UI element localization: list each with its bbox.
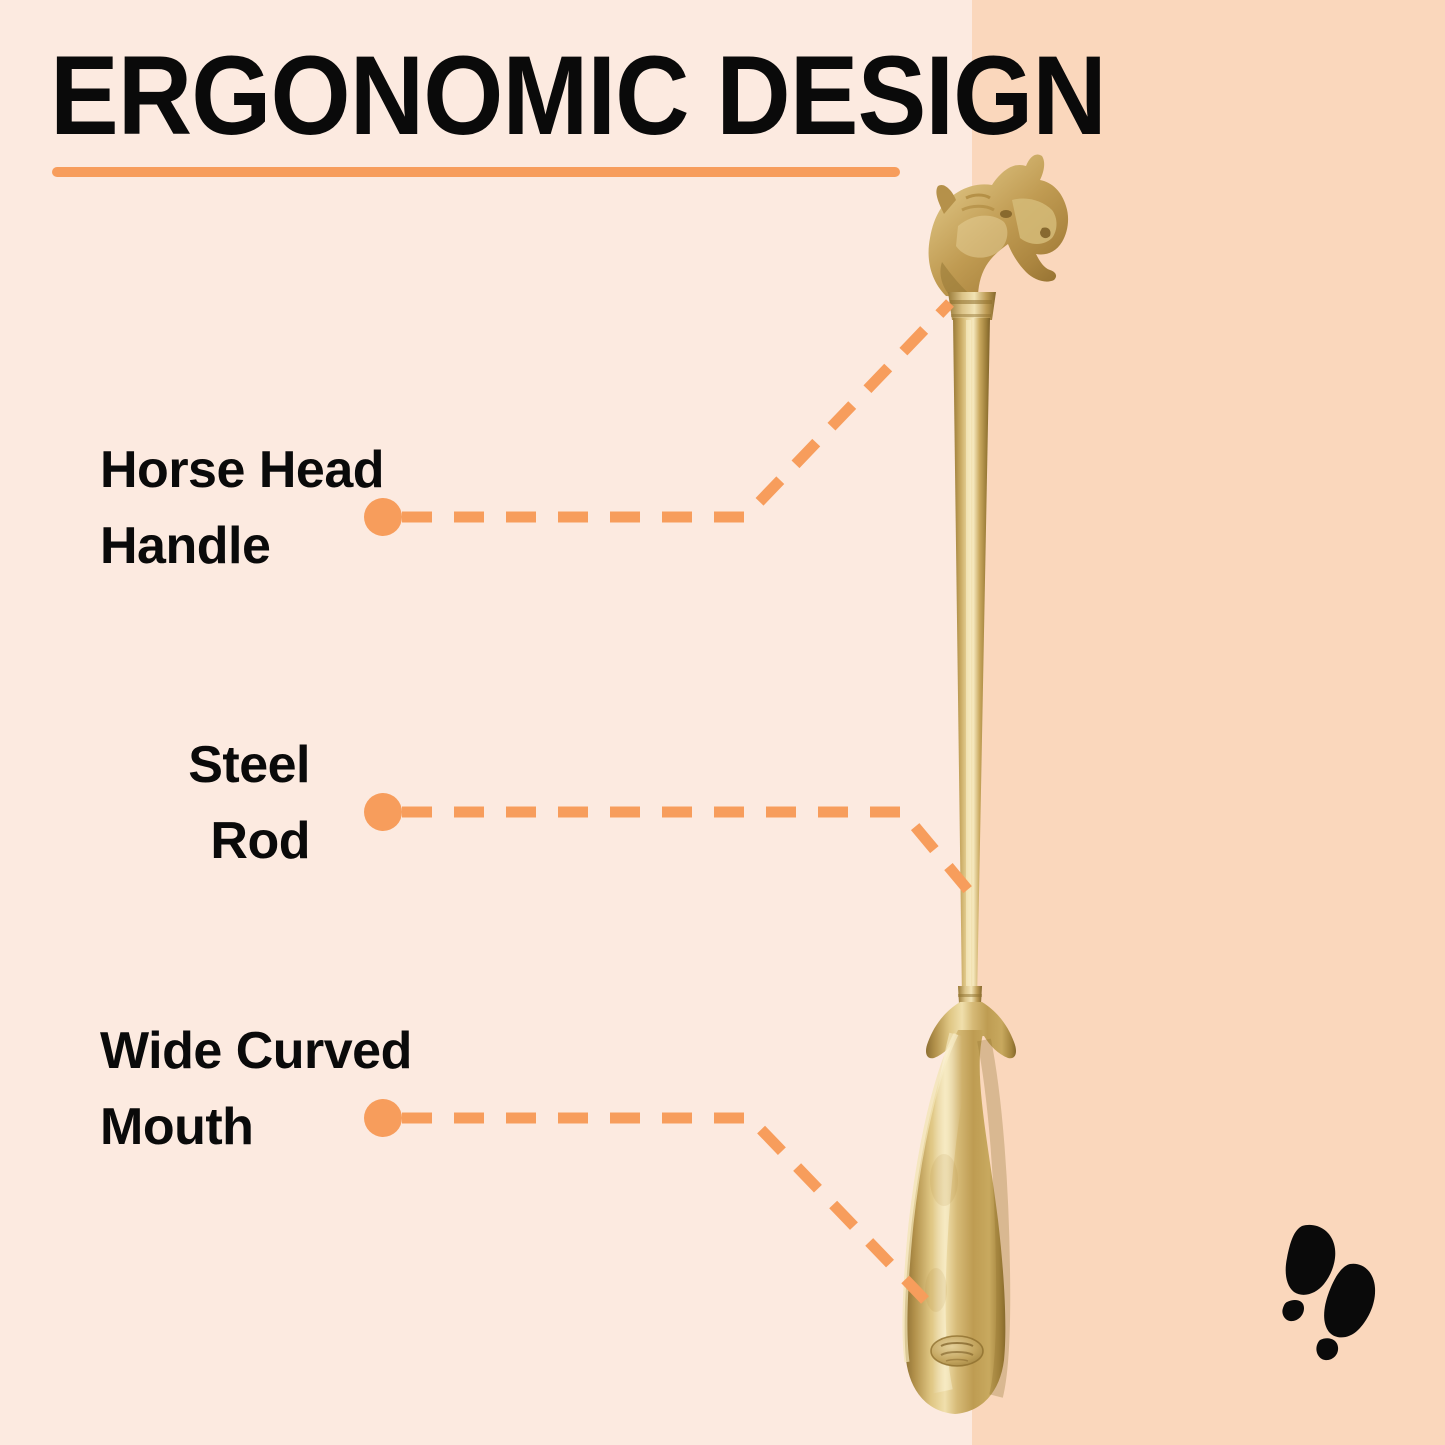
callout-dot-horse-head-handle[interactable] <box>364 498 402 536</box>
page-title: ERGONOMIC DESIGN <box>50 40 860 152</box>
wide-curved-mouth-part <box>905 1002 1016 1414</box>
steel-rod-part <box>953 318 990 1004</box>
callout-label-steel-rod: Steel Rod <box>60 727 310 879</box>
horse-head-handle-part <box>929 154 1069 298</box>
callout-dot-steel-rod[interactable] <box>364 793 402 831</box>
title-underline-rule <box>52 167 900 177</box>
infographic-canvas: ERGONOMIC DESIGN Horse Head Handle Steel… <box>0 0 1445 1445</box>
shoe-prints-icon <box>1258 1222 1386 1362</box>
product-image <box>0 0 1445 1445</box>
maker-stamp <box>931 1336 983 1366</box>
callout-label-wide-curved-mouth: Wide Curved Mouth <box>100 1013 500 1165</box>
callout-dot-wide-curved-mouth[interactable] <box>364 1099 402 1137</box>
handle-ferrule <box>948 292 996 320</box>
